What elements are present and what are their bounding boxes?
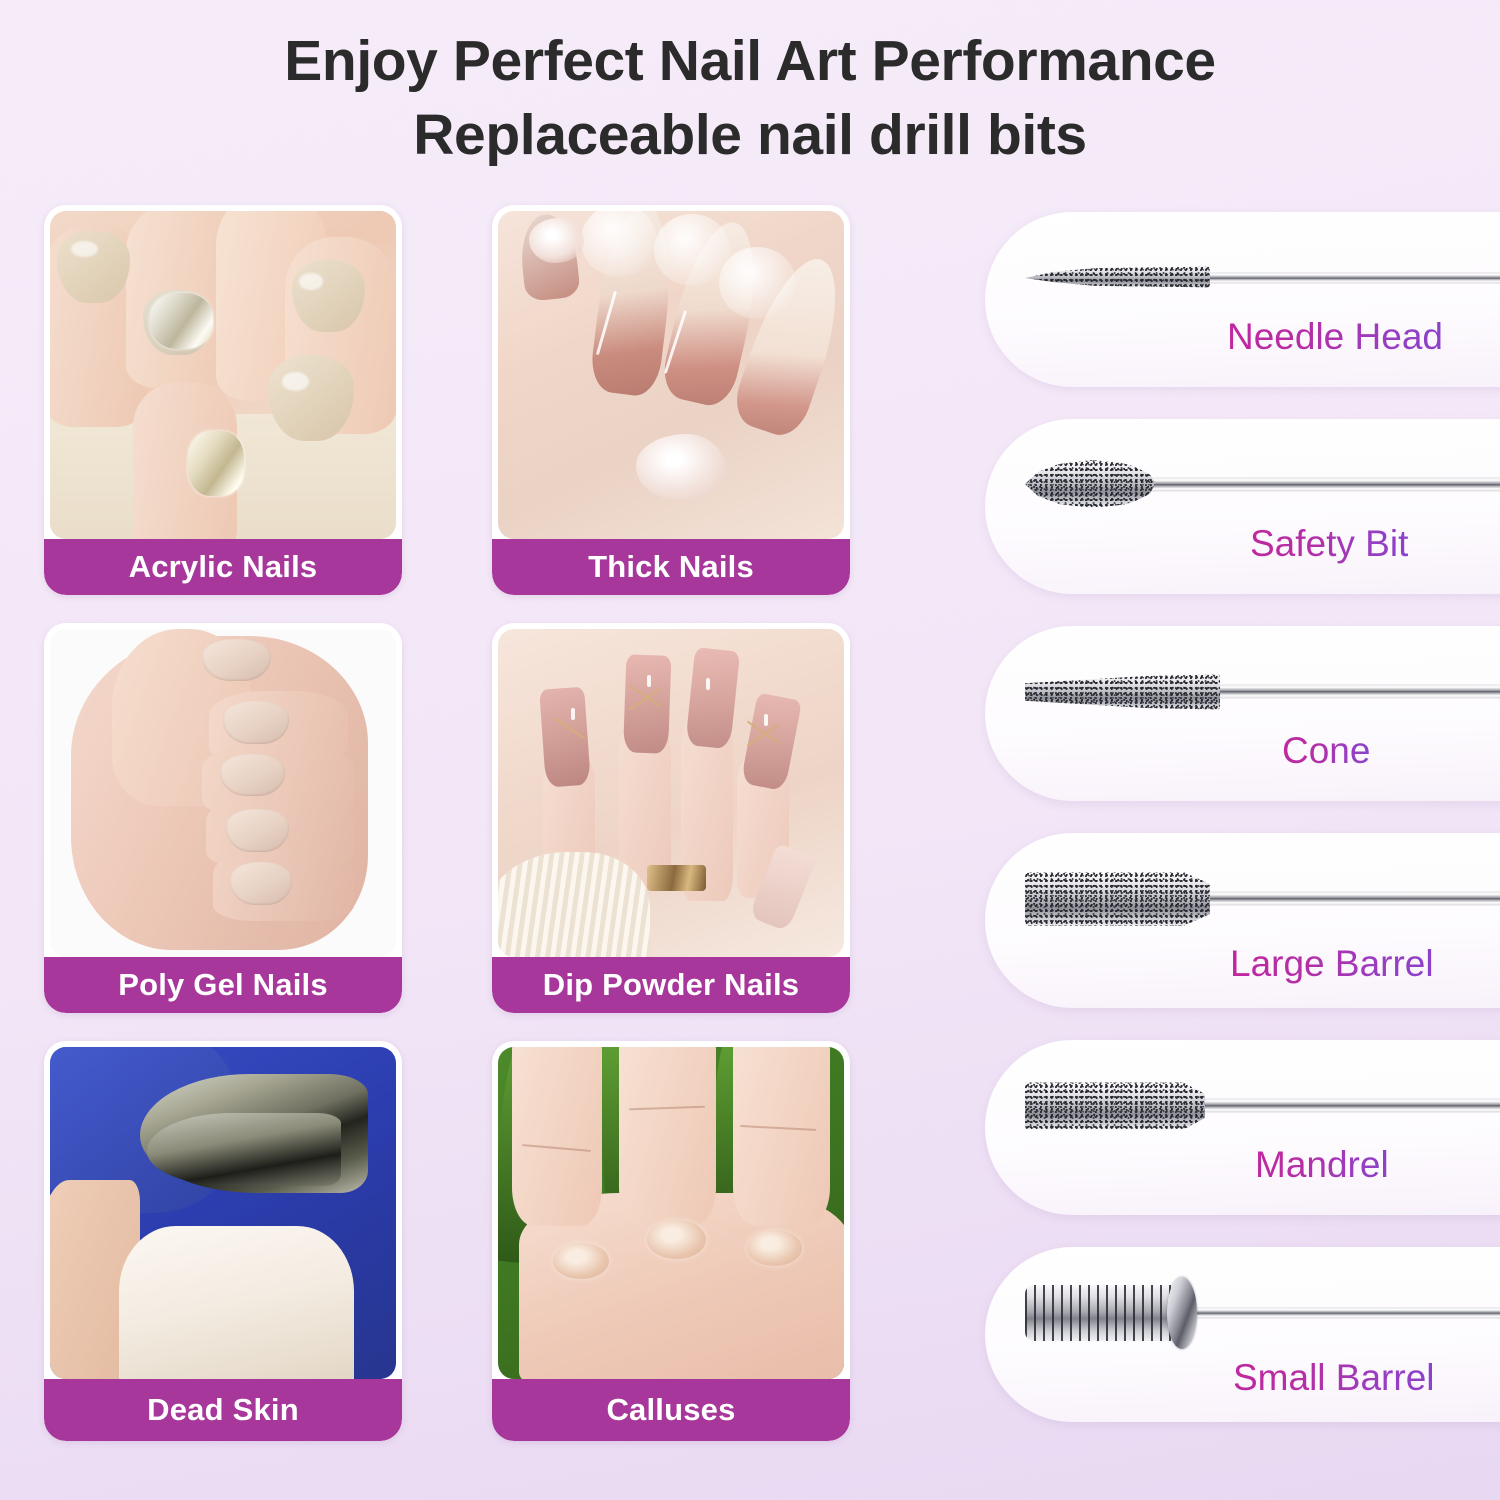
drill-bit-card-needle-head[interactable]: Needle Head (985, 212, 1500, 387)
use-case-photo-calluses (498, 1047, 844, 1379)
drill-bit-card-mandrel[interactable]: Mandrel (985, 1040, 1500, 1215)
use-case-photo-dip-powder-nails (498, 629, 844, 957)
needle-head-bit-icon (1025, 242, 1500, 312)
use-case-label: Dead Skin (44, 1379, 402, 1441)
use-case-label: Poly Gel Nails (44, 957, 402, 1013)
use-case-card-poly-gel-nails[interactable]: Poly Gel Nails (44, 623, 402, 1013)
use-case-photo-acrylic-nails (50, 211, 396, 539)
mandrel-bit-icon (1025, 1070, 1500, 1140)
drill-bit-list: Needle Head Safety Bit Cone Large Barrel… (985, 212, 1500, 1422)
use-case-card-calluses[interactable]: Calluses (492, 1041, 850, 1441)
page-title-line-2: Replaceable nail drill bits (0, 98, 1500, 172)
use-case-photo-poly-gel-nails (50, 629, 396, 957)
drill-bit-card-small-barrel[interactable]: Small Barrel (985, 1247, 1500, 1422)
drill-bit-label: Cone (1282, 730, 1370, 772)
use-case-label: Thick Nails (492, 539, 850, 595)
drill-bit-label: Mandrel (1255, 1144, 1389, 1186)
page-title-line-1: Enjoy Perfect Nail Art Performance (0, 24, 1500, 98)
use-case-photo-thick-nails (498, 211, 844, 539)
drill-bit-label: Safety Bit (1250, 523, 1408, 565)
drill-bit-label: Needle Head (1227, 316, 1443, 358)
use-case-label: Acrylic Nails (44, 539, 402, 595)
drill-bit-label: Small Barrel (1233, 1357, 1435, 1399)
use-case-grid: Acrylic Nails Thick Nails (44, 205, 854, 1441)
drill-bit-card-safety-bit[interactable]: Safety Bit (985, 419, 1500, 594)
small-barrel-bit-icon (1025, 1277, 1500, 1347)
use-case-card-dead-skin[interactable]: Dead Skin (44, 1041, 402, 1441)
use-case-label: Calluses (492, 1379, 850, 1441)
use-case-label: Dip Powder Nails (492, 957, 850, 1013)
use-case-card-thick-nails[interactable]: Thick Nails (492, 205, 850, 595)
large-barrel-bit-icon (1025, 863, 1500, 933)
use-case-card-acrylic-nails[interactable]: Acrylic Nails (44, 205, 402, 595)
drill-bit-card-large-barrel[interactable]: Large Barrel (985, 833, 1500, 1008)
cone-bit-icon (1025, 656, 1500, 726)
page-header: Enjoy Perfect Nail Art Performance Repla… (0, 0, 1500, 195)
use-case-photo-dead-skin (50, 1047, 396, 1379)
safety-bit-icon (1025, 449, 1500, 519)
drill-bit-label: Large Barrel (1230, 943, 1434, 985)
drill-bit-card-cone[interactable]: Cone (985, 626, 1500, 801)
use-case-card-dip-powder-nails[interactable]: Dip Powder Nails (492, 623, 850, 1013)
